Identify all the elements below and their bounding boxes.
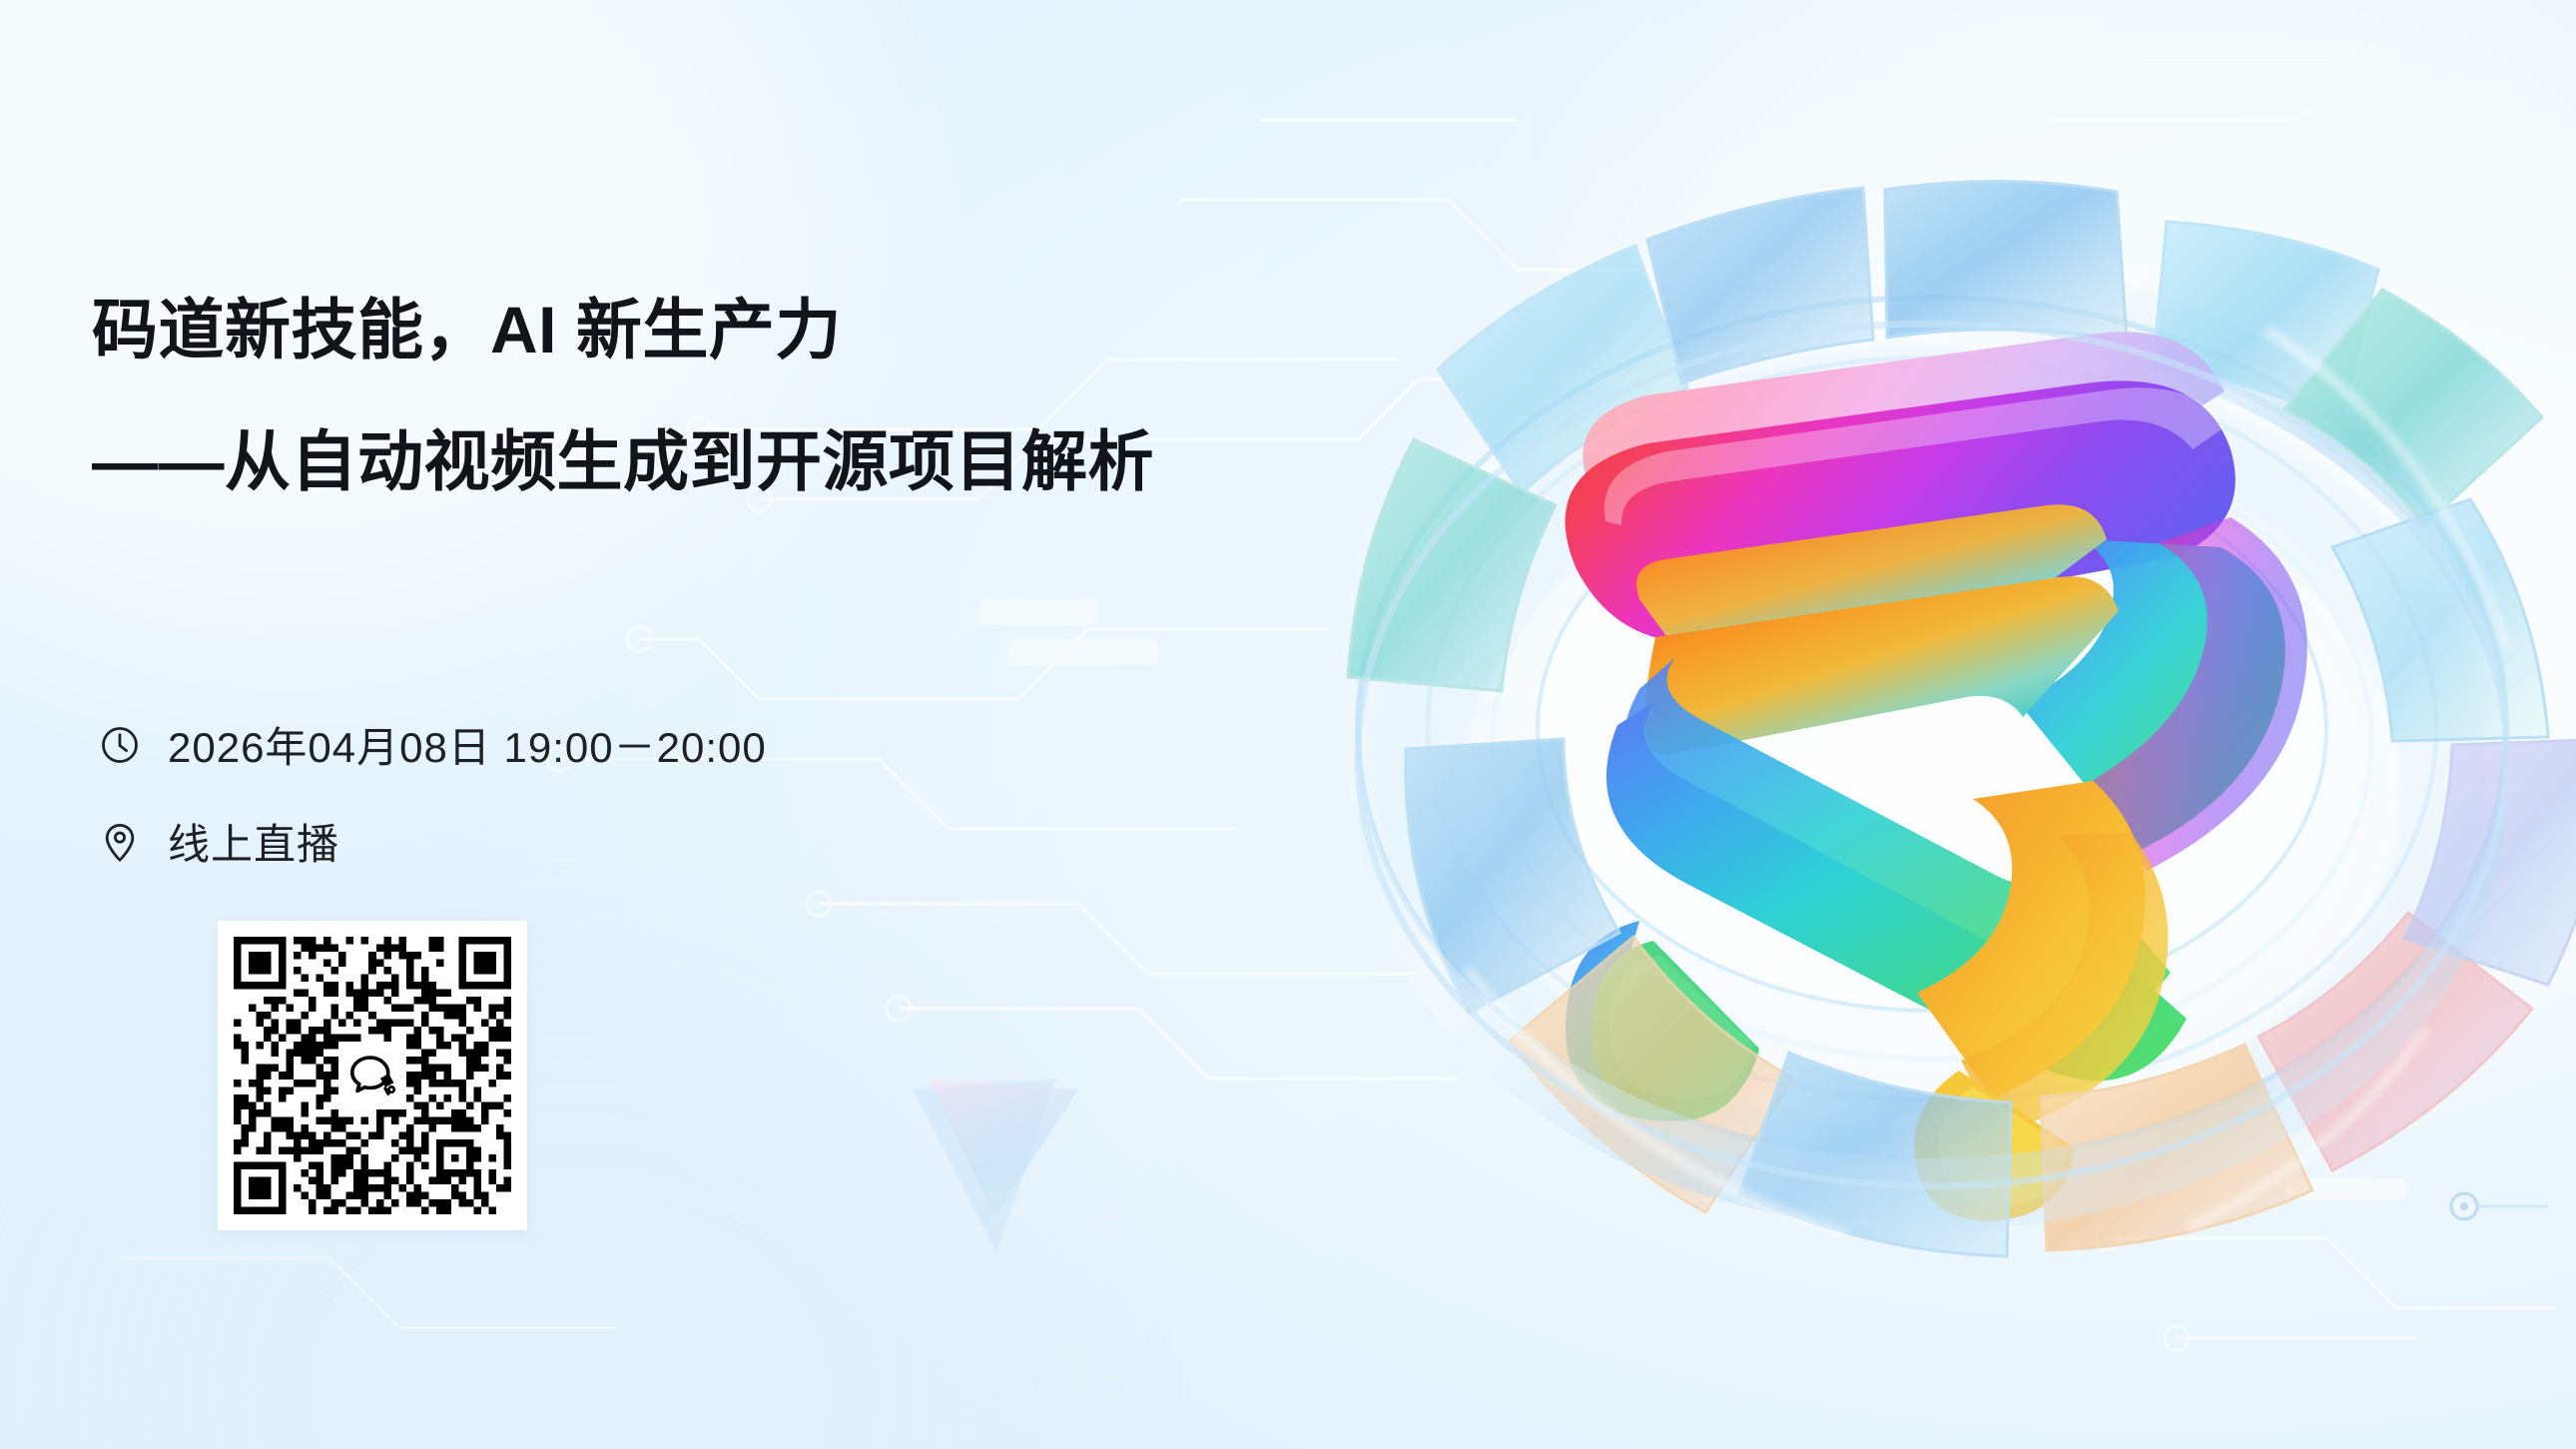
poster-text-block: 码道新技能，AI 新生产力 ——从自动视频生成到开源项目解析 2026年04月0… [0,0,1098,1449]
qr-code-card[interactable] [218,921,527,1230]
event-datetime-text: 2026年04月08日 19:00－20:00 [168,714,767,775]
qr-code-matrix[interactable] [234,937,511,1214]
event-location-row: 线上直播 [98,811,339,872]
background-glow-right [1538,0,2576,1059]
event-datetime-row: 2026年04月08日 19:00－20:00 [98,714,767,775]
speech-bubble-megaphone-icon [339,1043,405,1108]
poster-title-line-1: 码道新技能，AI 新生产力 [92,297,842,362]
poster-canvas: 码道新技能，AI 新生产力 ——从自动视频生成到开源项目解析 2026年04月0… [0,0,2576,1449]
node-dot [2451,1193,2548,1219]
qr-code-block[interactable]: 华为云码道CodeArts训练营 [218,921,527,1230]
rainbow-ribbon-glass-ring-graphic [1288,130,2576,1258]
poster-subtitle-line-2: ——从自动视频生成到开源项目解析 [92,428,1154,494]
location-pin-icon [98,820,142,864]
event-location-text: 线上直播 [168,811,339,872]
clock-icon [98,723,142,767]
